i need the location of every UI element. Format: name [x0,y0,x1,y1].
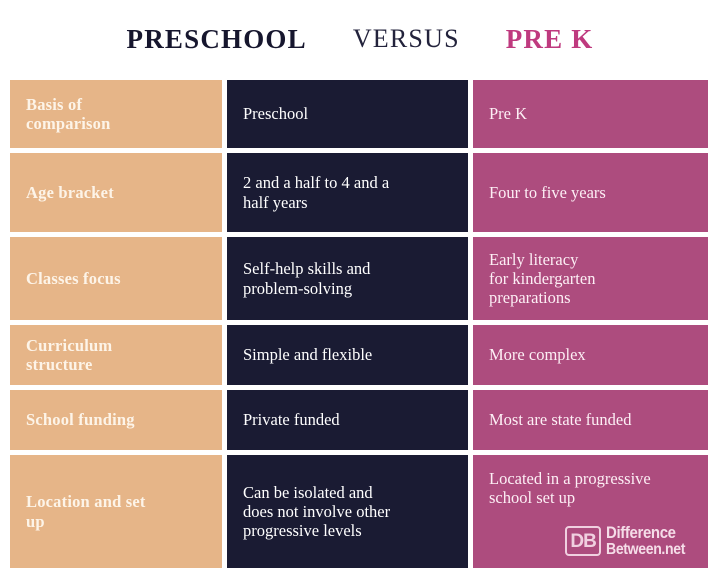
table-row: Location and set up Can be isolated and … [10,455,708,568]
table-row: Basis of comparison Preschool Pre K [10,80,708,148]
comparison-table: Basis of comparison Preschool Pre K Age … [10,80,708,568]
comparison-infographic: PRESCHOOL VERSUS PRE K Basis of comparis… [0,0,720,580]
db-badge-icon: DB [565,526,601,556]
cell-prek-value: Early literacy for kindergarten preparat… [473,237,708,320]
table-row: Classes focus Self-help skills and probl… [10,237,708,320]
cell-preschool-value: Can be isolated and does not involve oth… [227,455,468,568]
table-row: School funding Private funded Most are s… [10,390,708,450]
cell-preschool-value: Self-help skills and problem-solving [227,237,468,320]
table-row: Curriculum structure Simple and flexible… [10,325,708,385]
cell-prek-value: Located in a progressive school set up D… [473,455,708,568]
cell-basis-label: Age bracket [10,153,222,232]
cell-basis-label: School funding [10,390,222,450]
cell-basis-label: Curriculum structure [10,325,222,385]
cell-preschool-value: Private funded [227,390,468,450]
title-versus-word: VERSUS [353,24,460,54]
db-badge-text: DB [570,532,595,551]
logo-line-1: Difference [606,524,685,541]
title-left-term: PRESCHOOL [127,24,307,55]
cell-prek-value: Four to five years [473,153,708,232]
cell-basis-label: Classes focus [10,237,222,320]
title-right-term: PRE K [506,24,594,55]
logo-wordmark: Difference Between.net [606,524,696,558]
cell-prek-value: Pre K [473,80,708,148]
cell-basis-label: Basis of comparison [10,80,222,148]
cell-prek-value: Most are state funded [473,390,708,450]
logo-line-2: Between.net [606,542,685,558]
cell-preschool-value: Simple and flexible [227,325,468,385]
cell-prek-value: More complex [473,325,708,385]
cell-preschool-value: 2 and a half to 4 and a half years [227,153,468,232]
table-row: Age bracket 2 and a half to 4 and a half… [10,153,708,232]
differencebetween-logo: DB Difference Between.net [565,524,696,558]
cell-basis-label: Location and set up [10,455,222,568]
cell-preschool-value: Preschool [227,80,468,148]
page-title: PRESCHOOL VERSUS PRE K [0,18,720,60]
